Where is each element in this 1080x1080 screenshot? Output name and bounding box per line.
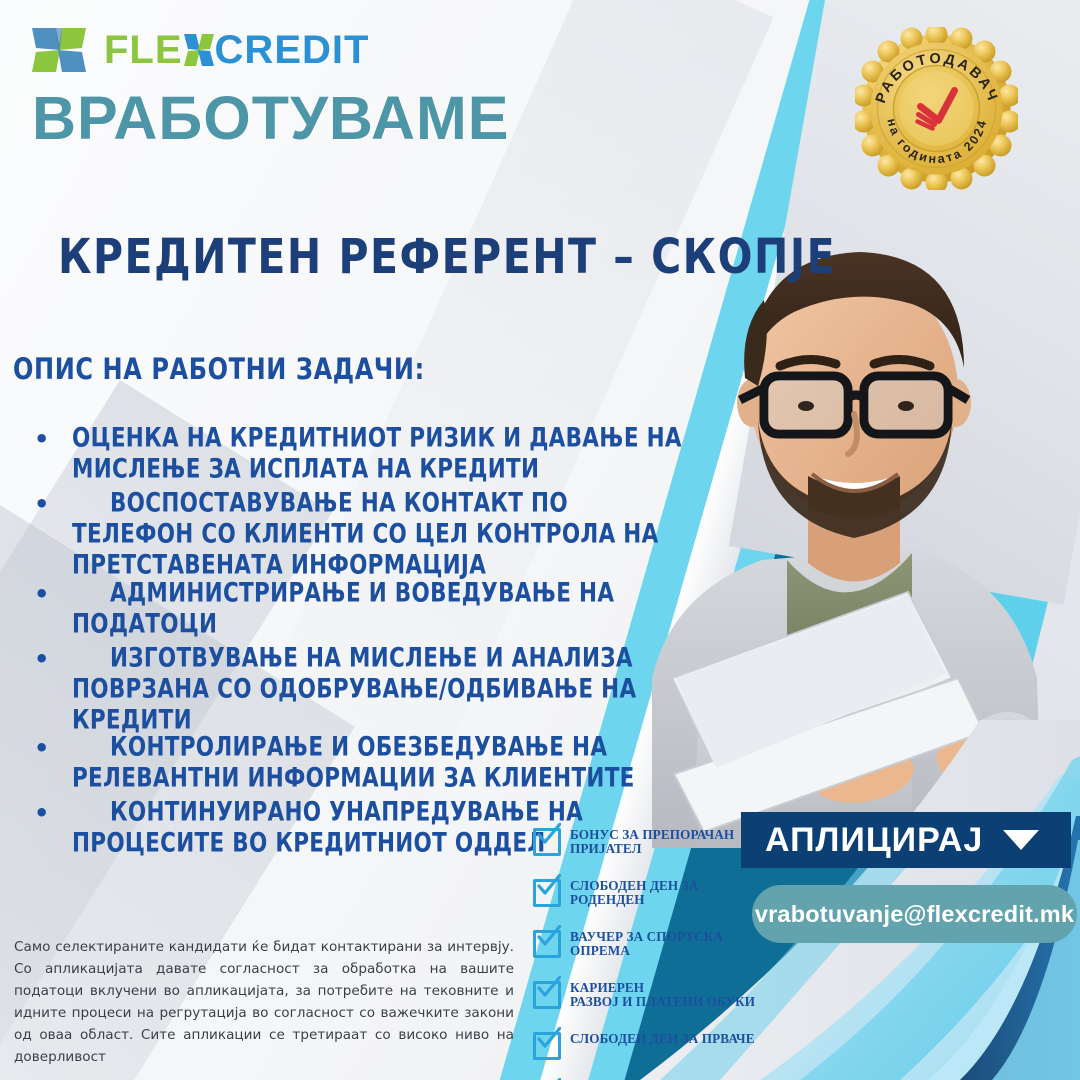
bullet-icon: • (14, 798, 72, 828)
apply-button-label: АПЛИЦИРАЈ (765, 821, 983, 860)
duty-text: ВОСПОСТАВУВАЊЕ НА КОНТАКТ ПО ТЕЛЕФОН СО … (72, 489, 694, 582)
duty-item: • ОЦЕНКА НА КРЕДИТНИОТ РИЗИК И ДАВАЊЕ НА… (14, 424, 694, 474)
bullet-icon: • (14, 579, 72, 609)
bullet-icon: • (14, 489, 72, 519)
benefit-line-2: ПРИЈАТЕЛ (570, 841, 642, 856)
duty-item: • АДМИНИСТРИРАЊЕ И ВОВЕДУВАЊЕ НА ПОДАТОЦ… (14, 579, 694, 629)
benefit-line-2: РАЗВОЈ И ПЛАТЕНИ ОБУКИ (570, 994, 755, 1009)
bullet-icon: • (14, 424, 72, 454)
benefit-line-2: ОПРЕМА (570, 943, 630, 958)
bullet-icon: • (14, 644, 72, 674)
benefit-label: СЛОБОДЕН ДЕН ЗА ПРВАЧЕ (570, 1026, 755, 1046)
logo-text-credit: CREDIT (215, 30, 370, 70)
disclaimer-text: Само селектираните кандидати ќе бидат ко… (14, 936, 514, 1068)
job-ad-poster: FLE CREDIT ВРАБОТУВАМЕ КРЕДИТЕН РЕФЕРЕНТ… (0, 0, 1080, 1080)
checkbox-checked-icon (533, 979, 560, 1006)
duties-list: • ОЦЕНКА НА КРЕДИТНИОТ РИЗИК И ДАВАЊЕ НА… (14, 424, 694, 863)
flexcredit-logo: FLE CREDIT (30, 24, 369, 76)
duties-section-label: ОПИС НА РАБОТНИ ЗАДАЧИ: (13, 352, 425, 386)
logo-x-glyph-icon (184, 33, 214, 67)
checkbox-checked-icon (533, 877, 560, 904)
benefit-label: БОНУС ЗА ПРЕПОРАЧАН ПРИЈАТЕЛ (570, 822, 734, 855)
benefit-item: КАРИЕРЕН РАЗВОЈ И ПЛАТЕНИ ОБУКИ (533, 975, 783, 1020)
duty-item: • ИЗГОТВУВАЊЕ НА МИСЛЕЊЕ И АНАЛИЗА ПОВРЗ… (14, 644, 694, 719)
checkbox-checked-icon (533, 1030, 560, 1057)
duty-text: ИЗГОТВУВАЊЕ НА МИСЛЕЊЕ И АНАЛИЗА ПОВРЗАН… (72, 644, 694, 737)
benefit-label: ВАУЧЕР ЗА СПОРТСКА ОПРЕМА (570, 924, 723, 957)
bullet-icon: • (14, 733, 72, 763)
flexcredit-wordmark: FLE CREDIT (104, 30, 369, 70)
logo-text-flex: FLE (104, 30, 183, 70)
job-position-title: КРЕДИТЕН РЕФЕРЕНТ – СКОПЈЕ (58, 228, 836, 285)
duty-text: ОЦЕНКА НА КРЕДИТНИОТ РИЗИК И ДАВАЊЕ НА М… (72, 424, 694, 486)
chevron-down-icon (1003, 830, 1039, 850)
benefit-item: ВАУЧЕР ЗА СПОРТСКА ОПРЕМА (533, 924, 783, 969)
benefit-line-1: СЛОБОДЕН ДЕН ЗА ПРВАЧЕ (570, 1031, 755, 1046)
checkbox-checked-icon (533, 826, 560, 853)
benefit-item: СЛОБОДЕН ДЕН ЗА ПРВАЧЕ (533, 1026, 783, 1071)
award-seal-icon: РАБОТОДАВАЧ на годината 2024 (855, 27, 1018, 190)
checkbox-checked-icon (533, 928, 560, 955)
benefit-line-2: РОДЕНДЕН (570, 892, 645, 907)
benefit-item: СЛОБОДЕН ДЕН ЗА РОДЕНДЕН (533, 873, 783, 918)
benefit-label: КАРИЕРЕН РАЗВОЈ И ПЛАТЕНИ ОБУКИ (570, 975, 755, 1008)
duty-item: • ВОСПОСТАВУВАЊЕ НА КОНТАКТ ПО ТЕЛЕФОН С… (14, 489, 694, 564)
email-contact-pill[interactable]: vrabotuvanje@flexcredit.mk (752, 885, 1077, 943)
flexcredit-x-mark-icon (30, 24, 88, 76)
duty-text: КОНТРОЛИРАЊЕ И ОБЕЗБЕДУВАЊЕ НА РЕЛЕВАНТН… (72, 733, 694, 795)
email-address: vrabotuvanje@flexcredit.mk (755, 901, 1074, 928)
benefit-label: СЛОБОДЕН ДЕН ЗА РОДЕНДЕН (570, 873, 698, 906)
duty-text: АДМИНИСТРИРАЊЕ И ВОВЕДУВАЊЕ НА ПОДАТОЦИ (72, 579, 694, 641)
page-title: ВРАБОТУВАМЕ (32, 88, 510, 149)
apply-button[interactable]: АПЛИЦИРАЈ (741, 812, 1071, 868)
duty-item: • КОНТРОЛИРАЊЕ И ОБЕЗБЕДУВАЊЕ НА РЕЛЕВАН… (14, 733, 694, 783)
